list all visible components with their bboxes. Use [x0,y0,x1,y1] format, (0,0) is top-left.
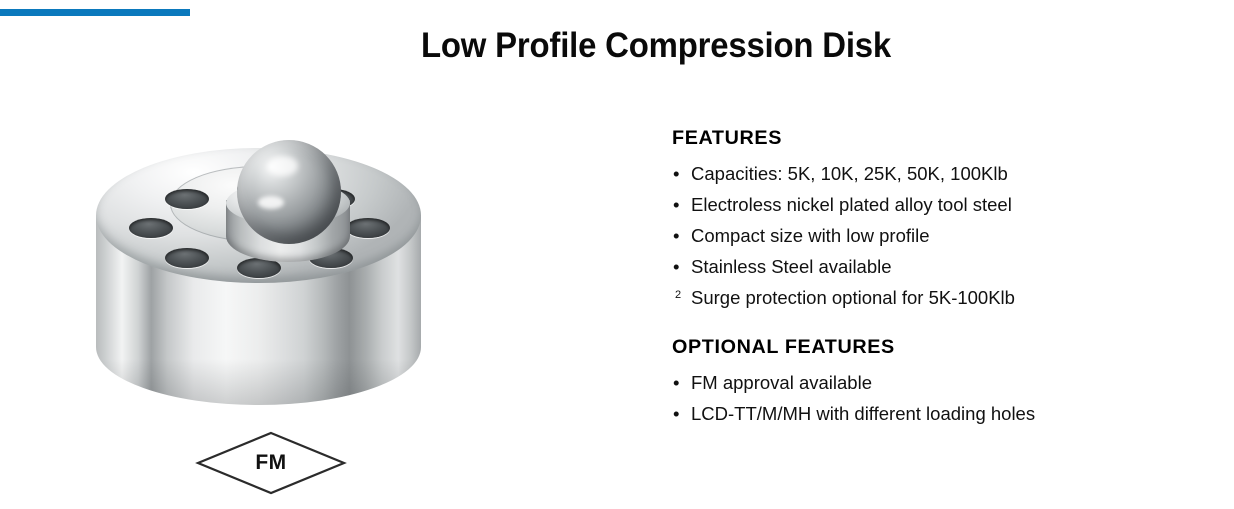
optional-features-heading: OPTIONAL FEATURES [672,337,1192,359]
accent-bar [0,9,190,16]
list-item: • FM approval available [672,367,1172,398]
page-title: Low Profile Compression Disk [321,26,990,66]
list-item: • Capacities: 5K, 10K, 25K, 50K, 100Klb [672,158,1172,189]
bullet-icon: • [673,220,679,251]
fm-approval-mark: FM [195,430,347,496]
bolt-hole [165,189,209,209]
list-item: • Stainless Steel available [672,251,1172,282]
list-item: • Compact size with low profile [672,220,1172,251]
load-cell-top-face [96,148,421,283]
list-item-text: LCD-TT/M/MH with different loading holes [691,403,1035,424]
list-item-text: Electroless nickel plated alloy tool ste… [691,194,1012,215]
list-item: • LCD-TT/M/MH with different loading hol… [672,398,1172,429]
list-item: • Electroless nickel plated alloy tool s… [672,189,1172,220]
bolt-hole [129,218,173,238]
bullet-icon: • [673,158,679,189]
bullet-icon: • [673,367,679,398]
list-item-text: Stainless Steel available [691,256,892,277]
list-item-text: FM approval available [691,372,872,393]
fm-mark-label: FM [195,430,347,496]
bullet-icon: • [673,398,679,429]
footnote-marker: 2 [675,282,681,308]
features-list: • Capacities: 5K, 10K, 25K, 50K, 100Klb … [672,158,1172,313]
features-heading: FEATURES [672,128,1192,150]
list-item-text: Compact size with low profile [691,225,930,246]
list-item-text: Surge protection optional for 5K-100Klb [691,287,1015,308]
bullet-icon: • [673,251,679,282]
bullet-icon: • [673,189,679,220]
ball-bearing [237,140,341,244]
specifications-column: FEATURES • Capacities: 5K, 10K, 25K, 50K… [672,128,1172,429]
bolt-hole [165,248,209,268]
product-figure: FM [60,120,480,500]
product-photo [60,120,480,430]
datasheet-page: Low Profile Compression Disk [0,0,1234,509]
optional-features-list: • FM approval available • LCD-TT/M/MH wi… [672,367,1172,429]
list-item-text: Capacities: 5K, 10K, 25K, 50K, 100Klb [691,163,1008,184]
list-item: 2 Surge protection optional for 5K-100Kl… [672,282,1172,313]
bolt-hole [346,218,390,238]
